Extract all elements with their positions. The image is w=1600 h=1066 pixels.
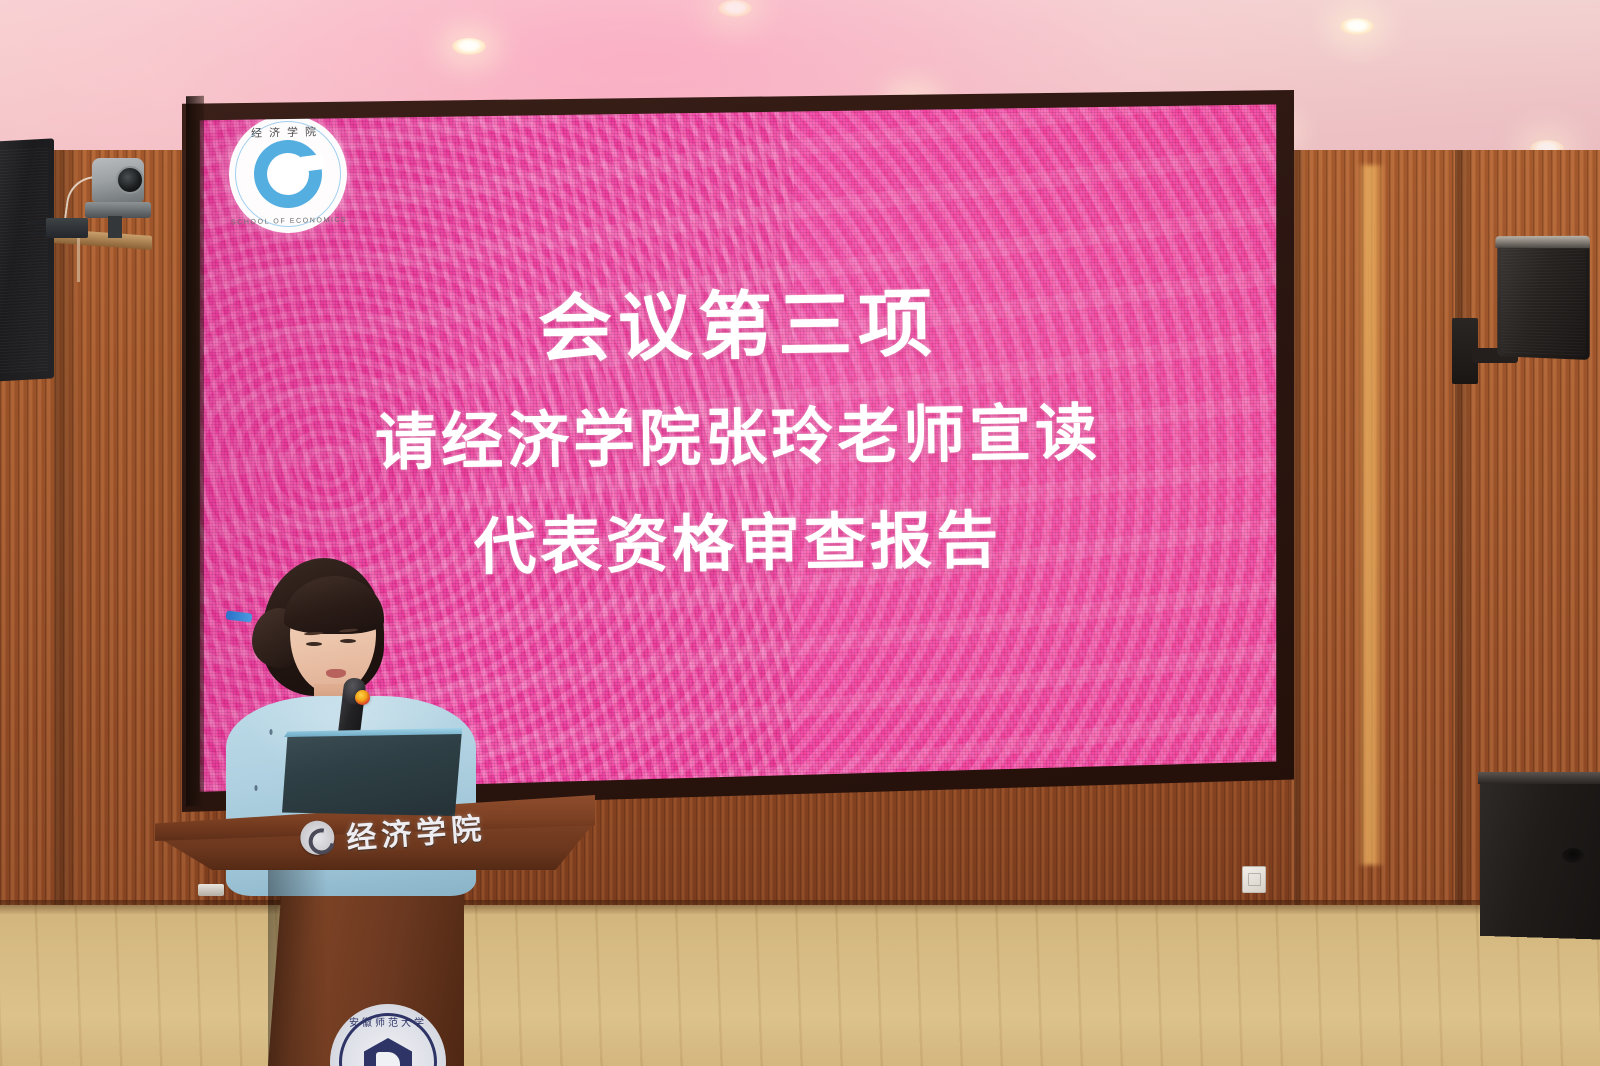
subwoofer-port-icon [1562, 848, 1584, 863]
wall-speaker-top [1495, 236, 1589, 248]
subwoofer-top [1478, 772, 1600, 784]
scene-root: 经济学院 SCHOOL OF ECONOMICS 会议第三项 请经济学院张玲老师… [0, 0, 1600, 1066]
wall-seam [1294, 150, 1304, 910]
podium-column-shading [268, 862, 328, 1066]
seal-chinese-text: 安徽师范大学 [330, 1014, 446, 1029]
camera-cable [77, 238, 80, 282]
laptop [282, 730, 462, 816]
left-column-speaker [0, 138, 54, 381]
mouth [326, 669, 346, 678]
podium-emblem-icon [299, 820, 335, 856]
floor [0, 905, 1600, 1066]
camera-stem [108, 216, 122, 238]
wall-light-column [1357, 165, 1383, 865]
eye [306, 642, 322, 646]
wall-sensor-icon [198, 884, 224, 896]
eye [340, 639, 356, 643]
wireless-receiver [46, 218, 88, 238]
downlight-icon [452, 38, 486, 55]
downlight-icon [1340, 18, 1374, 35]
downlight-icon [718, 0, 752, 17]
party-emblem-pin-icon [355, 690, 370, 705]
university-seal-icon: 安徽师范大学 [330, 1004, 446, 1066]
left-wall-seam [55, 150, 77, 950]
floor-wall-joint [0, 900, 1600, 914]
slide-subheading-1: 请经济学院张玲老师宣读 [182, 380, 1294, 486]
camera-lens-icon [116, 166, 144, 194]
right-wall-speaker [1497, 240, 1589, 360]
screen-left-bezel [186, 96, 204, 806]
slide-heading: 会议第三项 [182, 259, 1294, 382]
ptz-camera-icon [92, 158, 144, 202]
wall-outlet-icon [1242, 866, 1266, 893]
wall-seam [1455, 150, 1471, 910]
